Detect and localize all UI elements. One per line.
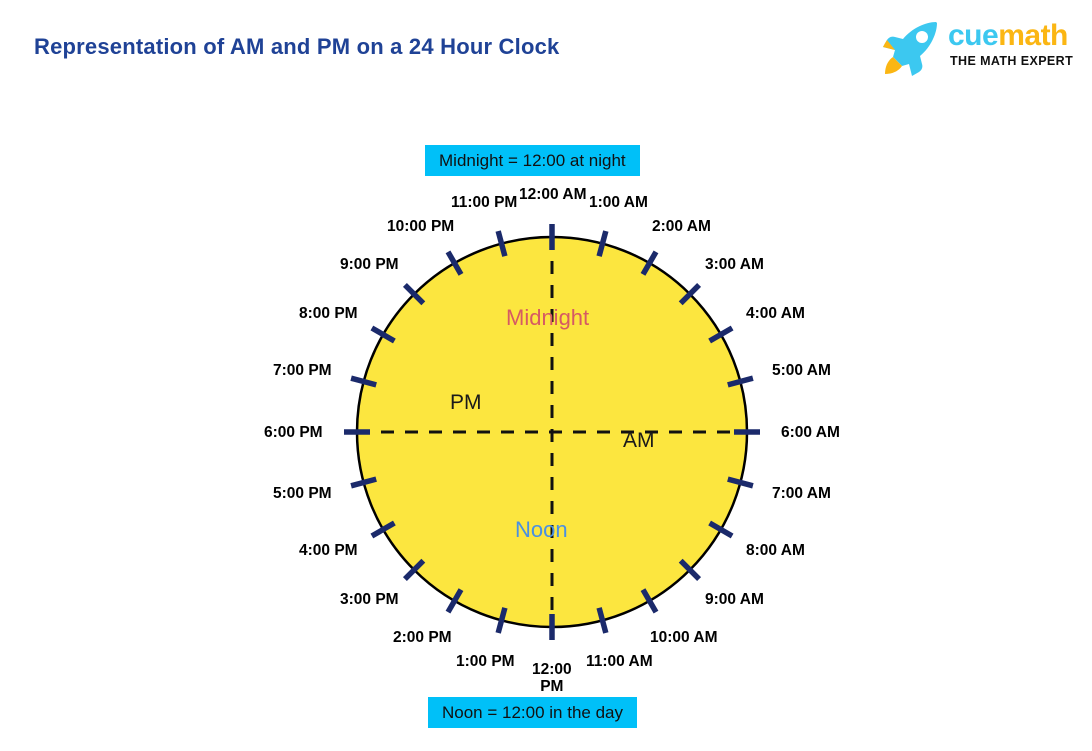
hour-label-10-00-am: 10:00 AM bbox=[650, 629, 717, 646]
hour-label-12-00-am: 12:00 AM bbox=[519, 186, 586, 203]
hour-label-6-00-pm: 6:00 PM bbox=[264, 424, 323, 441]
hour-label-4-00-am: 4:00 AM bbox=[746, 305, 805, 322]
clock-svg bbox=[0, 0, 1092, 751]
hour-label-line: 10:00 PM bbox=[387, 218, 454, 235]
hour-label-line: 1:00 AM bbox=[589, 194, 648, 211]
zone-label-am: AM bbox=[623, 429, 655, 453]
hour-label-line: 4:00 PM bbox=[299, 542, 358, 559]
hour-label-2-00-pm: 2:00 PM bbox=[393, 629, 452, 646]
hour-label-6-00-am: 6:00 AM bbox=[781, 424, 840, 441]
hour-label-line: 1:00 PM bbox=[456, 653, 515, 670]
clock-diagram: PM AM Midnight Noon 12:00 AM1:00 AM2:00 … bbox=[0, 0, 1092, 751]
hour-label-line: 5:00 PM bbox=[273, 485, 332, 502]
hour-label-line: 2:00 AM bbox=[652, 218, 711, 235]
zone-label-pm: PM bbox=[450, 391, 482, 415]
hour-label-10-00-pm: 10:00 PM bbox=[387, 218, 454, 235]
hour-label-line: 3:00 PM bbox=[340, 591, 399, 608]
zone-label-midnight: Midnight bbox=[506, 305, 589, 331]
hour-label-line: 8:00 PM bbox=[299, 305, 358, 322]
hour-label-line: 11:00 AM bbox=[586, 653, 653, 670]
hour-label-3-00-am: 3:00 AM bbox=[705, 256, 764, 273]
hour-label-7-00-pm: 7:00 PM bbox=[273, 362, 332, 379]
hour-label-12-00-pm: 12:00PM bbox=[532, 661, 572, 695]
hour-label-line: 9:00 PM bbox=[340, 256, 399, 273]
hour-label-3-00-pm: 3:00 PM bbox=[340, 591, 399, 608]
hour-label-line: PM bbox=[532, 678, 572, 695]
hour-label-11-00-am: 11:00 AM bbox=[586, 653, 653, 670]
hour-label-9-00-pm: 9:00 PM bbox=[340, 256, 399, 273]
hour-label-8-00-pm: 8:00 PM bbox=[299, 305, 358, 322]
hour-label-line: 9:00 AM bbox=[705, 591, 764, 608]
hour-label-line: 7:00 AM bbox=[772, 485, 831, 502]
hour-label-5-00-am: 5:00 AM bbox=[772, 362, 831, 379]
hour-label-line: 11:00 PM bbox=[451, 194, 517, 211]
zone-label-noon: Noon bbox=[515, 517, 568, 543]
hour-label-line: 2:00 PM bbox=[393, 629, 452, 646]
hour-label-line: 12:00 AM bbox=[519, 186, 586, 203]
hour-label-line: 7:00 PM bbox=[273, 362, 332, 379]
hour-label-4-00-pm: 4:00 PM bbox=[299, 542, 358, 559]
hour-label-line: 4:00 AM bbox=[746, 305, 805, 322]
hour-label-line: 10:00 AM bbox=[650, 629, 717, 646]
hour-label-5-00-pm: 5:00 PM bbox=[273, 485, 332, 502]
hour-label-line: 6:00 PM bbox=[264, 424, 323, 441]
hour-label-7-00-am: 7:00 AM bbox=[772, 485, 831, 502]
hour-label-line: 3:00 AM bbox=[705, 256, 764, 273]
hour-label-1-00-am: 1:00 AM bbox=[589, 194, 648, 211]
hour-label-line: 6:00 AM bbox=[781, 424, 840, 441]
hour-label-line: 8:00 AM bbox=[746, 542, 805, 559]
hour-label-1-00-pm: 1:00 PM bbox=[456, 653, 515, 670]
hour-label-11-00-pm: 11:00 PM bbox=[451, 194, 517, 211]
hour-label-line: 5:00 AM bbox=[772, 362, 831, 379]
hour-label-2-00-am: 2:00 AM bbox=[652, 218, 711, 235]
hour-label-8-00-am: 8:00 AM bbox=[746, 542, 805, 559]
hour-label-9-00-am: 9:00 AM bbox=[705, 591, 764, 608]
hour-label-line: 12:00 bbox=[532, 661, 572, 678]
